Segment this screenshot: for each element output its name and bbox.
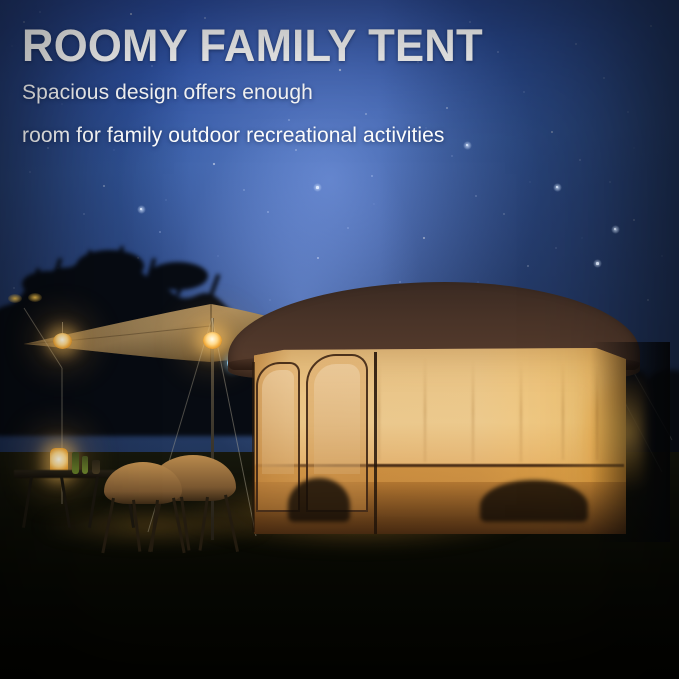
bottle-icon	[72, 452, 79, 474]
fabric-fold	[520, 362, 522, 462]
tent-corner-pole	[252, 362, 255, 532]
bright-star-icon	[556, 186, 558, 188]
tent-corner-pole	[374, 352, 377, 534]
bright-star-icon	[140, 208, 142, 210]
fabric-fold	[472, 360, 474, 462]
camp-chair-front	[104, 462, 182, 542]
camp-chair-seat	[104, 462, 182, 504]
fabric-fold	[562, 364, 564, 460]
fabric-fold	[424, 358, 426, 462]
tent-door-right-mesh	[314, 364, 360, 474]
page-title: ROOMY FAMILY TENT	[22, 23, 483, 68]
hanging-lantern-icon	[203, 332, 222, 349]
bottle-icon	[82, 456, 88, 474]
tent-door-left-mesh	[262, 370, 294, 474]
product-lifestyle-image: ROOMY FAMILY TENT Spacious design offers…	[0, 0, 679, 679]
fabric-fold	[378, 360, 380, 460]
pole-lantern-icon	[53, 333, 72, 349]
subtitle-line-2: room for family outdoor recreational act…	[22, 124, 445, 148]
family-tent	[228, 282, 640, 534]
subtitle-line-1: Spacious design offers enough	[22, 81, 313, 105]
cup-icon	[92, 460, 100, 474]
bright-star-icon	[316, 186, 319, 189]
bright-star-icon	[466, 144, 468, 146]
tent-right-shadow	[590, 342, 670, 542]
bright-star-icon	[614, 228, 616, 230]
